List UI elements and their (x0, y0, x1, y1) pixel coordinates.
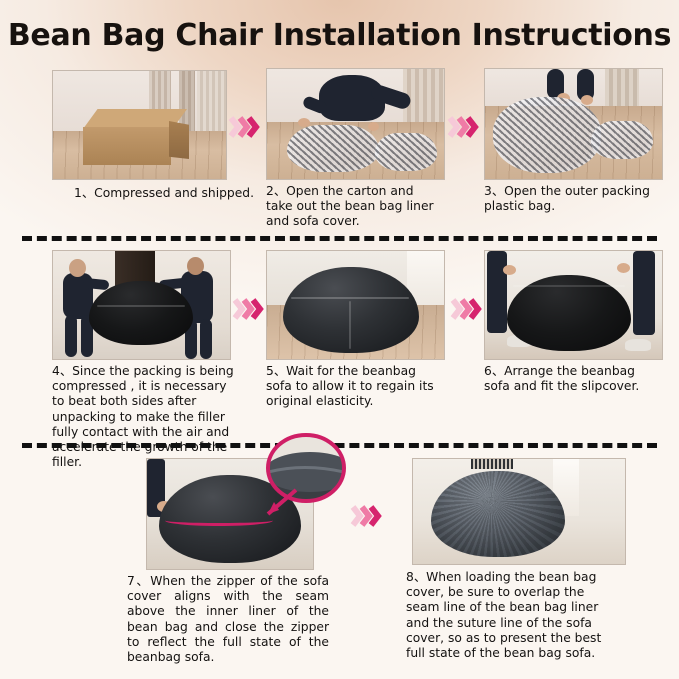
page-title: Bean Bag Chair Installation Instructions (0, 18, 679, 53)
arrow-step-4-to-5 (232, 296, 266, 322)
divider-row-1 (22, 236, 657, 241)
step-image-3 (484, 68, 663, 180)
step-caption-5: 5、Wait for the beanbag sofa to allow it … (266, 364, 442, 410)
step-image-7 (146, 458, 314, 570)
step-image-4 (52, 250, 231, 360)
step-caption-8: 8、When loading the bean bag cover, be su… (406, 570, 606, 661)
step-caption-6: 6、Arrange the beanbag sofa and fit the s… (484, 364, 656, 394)
step-image-6 (484, 250, 663, 360)
step-image-5 (266, 250, 445, 360)
step-caption-3: 3、Open the outer packing plastic bag. (484, 184, 656, 214)
step-image-2 (266, 68, 445, 180)
arrow-step-7-to-8 (350, 503, 384, 529)
arrow-step-1-to-2 (228, 114, 262, 140)
arrow-step-2-to-3 (447, 114, 481, 140)
step-caption-2: 2、Open the carton and take out the bean … (266, 184, 442, 230)
step-caption-1: 1、Compressed and shipped. (74, 186, 254, 201)
step-image-8 (412, 458, 626, 565)
divider-row-2 (22, 443, 657, 448)
step-image-1 (52, 70, 227, 180)
arrow-step-5-to-6 (450, 296, 484, 322)
infographic-page: Bean Bag Chair Installation Instructions… (0, 0, 679, 679)
step-caption-7: 7、When the zipper of the sofa cover alig… (127, 574, 329, 665)
step-caption-4: 4、Since the packing is being compressed … (52, 364, 242, 470)
